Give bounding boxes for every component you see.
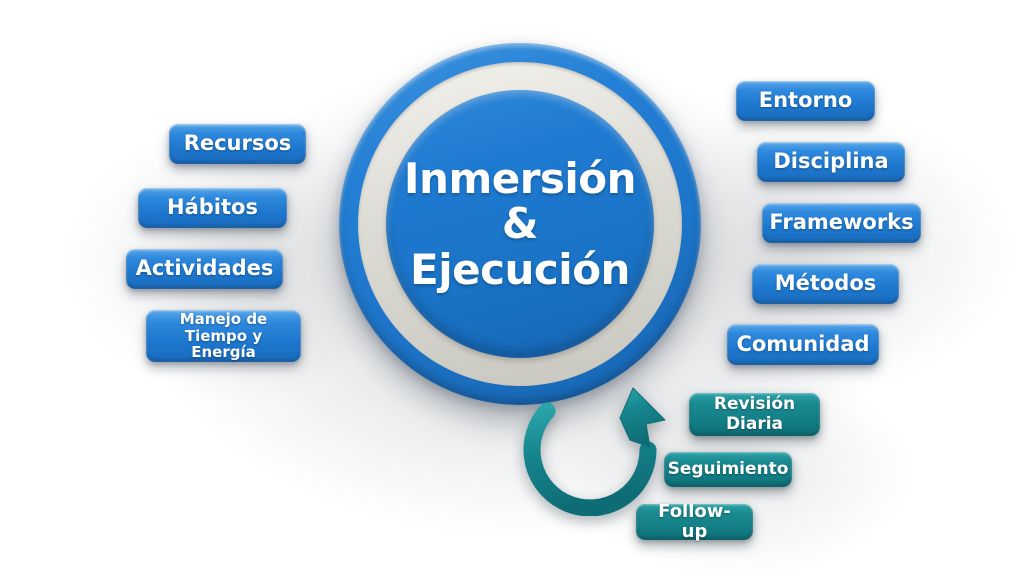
pill-metodos[interactable]: Métodos <box>752 264 899 304</box>
pill-label: Frameworks <box>769 211 913 235</box>
pill-label: Disciplina <box>773 150 888 174</box>
pill-label: Recursos <box>184 132 292 156</box>
pill-entorno[interactable]: Entorno <box>736 81 875 121</box>
pill-recursos[interactable]: Recursos <box>169 124 306 164</box>
pill-label: Entorno <box>759 89 853 113</box>
pill-disciplina[interactable]: Disciplina <box>757 142 905 182</box>
pill-frameworks[interactable]: Frameworks <box>762 203 921 243</box>
circle-silver-ring: Inmersión & Ejecución <box>358 62 682 386</box>
pill-comunidad[interactable]: Comunidad <box>727 324 879 365</box>
pill-manejo-tiempo-energia[interactable]: Manejo de Tiempo y Energía <box>146 310 301 362</box>
pill-actividades[interactable]: Actividades <box>126 249 283 289</box>
pill-label: Seguimiento <box>668 460 789 479</box>
infographic-canvas: Inmersión & Ejecución Recursos Hábitos A… <box>0 0 1024 576</box>
central-circle[interactable]: Inmersión & Ejecución <box>339 43 701 405</box>
center-title: Inmersión & Ejecución <box>390 156 650 292</box>
pill-label: Hábitos <box>167 196 258 220</box>
pill-seguimiento[interactable]: Seguimiento <box>664 452 792 487</box>
circle-outer-rim: Inmersión & Ejecución <box>339 43 701 405</box>
pill-revision-diaria[interactable]: Revisión Diaria <box>689 393 820 436</box>
pill-label: Métodos <box>775 272 877 296</box>
pill-label: Revisión Diaria <box>714 395 795 433</box>
pill-label: Actividades <box>136 257 274 281</box>
circle-inner-disc: Inmersión & Ejecución <box>386 90 654 358</box>
pill-habitos[interactable]: Hábitos <box>138 188 287 228</box>
refresh-cycle-icon <box>514 374 682 516</box>
pill-label: Manejo de Tiempo y Energía <box>157 311 290 361</box>
pill-label: Comunidad <box>736 333 869 357</box>
